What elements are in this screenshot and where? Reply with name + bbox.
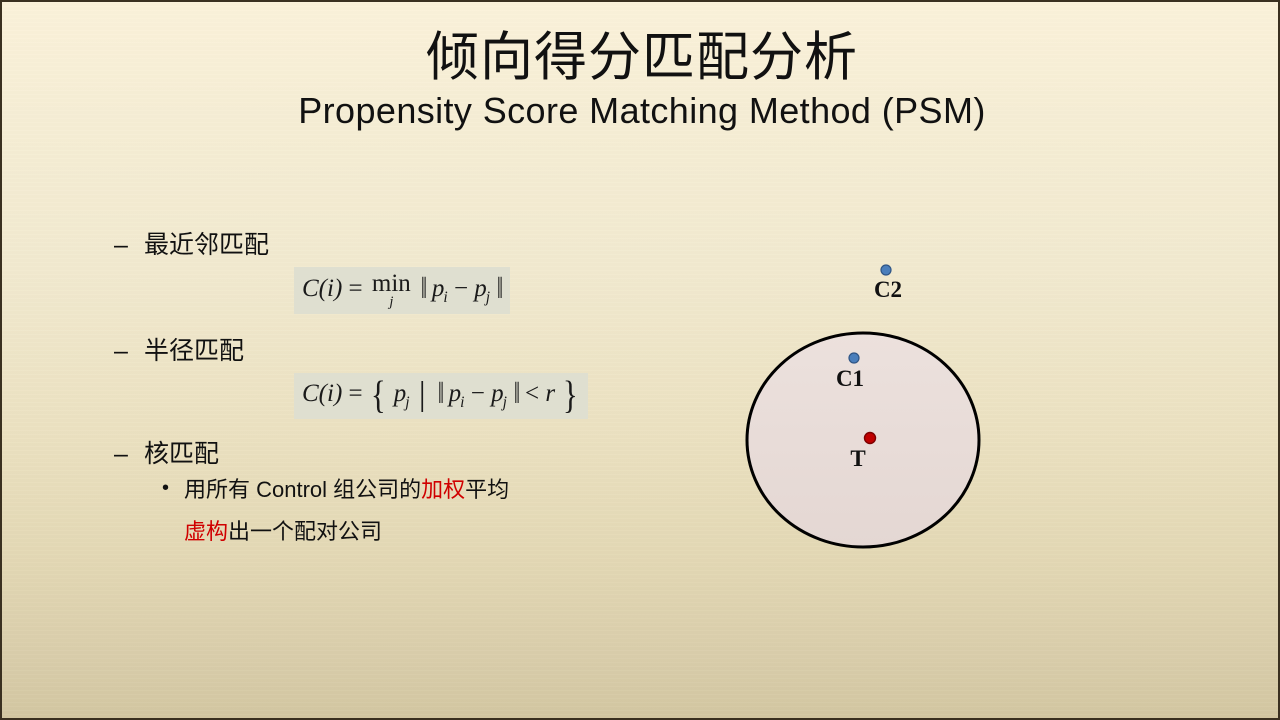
formula-wrap-radius-matching: C(i) = { pj | ‖ pi − pj ‖ < r } [294, 373, 714, 420]
bullet-label-nearest-neighbor: 最近邻匹配 [144, 230, 269, 260]
sub-bullet-line1-part-a: 用所有 Control 组公司的 [184, 477, 421, 502]
treated-point-t-label: T [850, 446, 865, 471]
sub-bullet-line1-highlight: 加权 [421, 477, 465, 502]
control-point-c1-dot [849, 353, 859, 363]
formula2-lhs: C(i) [302, 380, 342, 407]
formula1-minus: − [454, 275, 468, 302]
formula2-p-j2: p [491, 380, 504, 407]
formula2-brace-close: } [563, 377, 578, 416]
formula2-minus: − [471, 380, 485, 407]
formula-radius-matching: C(i) = { pj | ‖ pi − pj ‖ < r } [294, 373, 588, 420]
formula1-sub-i: i [443, 289, 447, 306]
formula2-vertical-bar: | [419, 378, 426, 412]
formula2-less-than: < [525, 380, 539, 407]
formula2-norm-close: ‖ [514, 378, 518, 409]
dash-marker-icon: – [114, 230, 144, 260]
formula2-sub-i: i [460, 394, 464, 411]
page-title-chinese: 倾向得分匹配分析 [2, 30, 1280, 86]
treated-point-t-dot [865, 433, 876, 444]
dash-marker-icon: – [114, 439, 144, 469]
sub-bullet-line2-part-b: 出一个配对公司 [228, 519, 382, 544]
bullet-item-kernel-matching: – 核匹配 [114, 439, 714, 469]
formula-nearest-neighbor: C(i) = min j ‖ pi − pj ‖ [294, 267, 510, 314]
dash-marker-icon: – [114, 336, 144, 366]
formula-wrap-nearest-neighbor: C(i) = min j ‖ pi − pj ‖ [294, 267, 714, 314]
bullet-content-column: – 最近邻匹配 C(i) = min j ‖ pi − pj ‖ – 半径匹配 [114, 230, 714, 553]
psm-matching-diagram: C2 C1 T [732, 250, 1002, 570]
formula2-norm-open: ‖ [438, 378, 442, 409]
formula1-sub-j: j [486, 289, 490, 306]
control-point-c2-dot [881, 265, 891, 275]
dot-marker-icon: • [162, 469, 184, 507]
title-block: 倾向得分匹配分析 Propensity Score Matching Metho… [2, 30, 1280, 130]
bullet-item-nearest-neighbor: – 最近邻匹配 [114, 230, 714, 260]
slide-canvas: 倾向得分匹配分析 Propensity Score Matching Metho… [0, 0, 1280, 720]
bullet-label-kernel-matching: 核匹配 [144, 439, 219, 469]
sub-bullet-line-1: 用所有 Control 组公司的加权平均 [184, 477, 509, 502]
formula1-norm-open: ‖ [421, 273, 425, 304]
formula2-brace-open: { [371, 377, 386, 416]
control-point-c2-label: C2 [874, 277, 902, 302]
formula1-equals: = [349, 275, 363, 302]
sub-bullet-line2-highlight: 虚构 [184, 519, 228, 544]
formula2-r: r [545, 380, 555, 407]
page-subtitle-english: Propensity Score Matching Method (PSM) [2, 91, 1280, 131]
formula2-sub-j2: j [503, 394, 507, 411]
sub-bullet-line1-part-b: 平均 [465, 477, 509, 502]
formula2-sub-j: j [405, 394, 409, 411]
formula1-p-j: p [474, 275, 487, 302]
control-point-c1-label: C1 [836, 366, 864, 391]
bullet-label-radius-matching: 半径匹配 [144, 336, 244, 366]
formula1-min-text: min [372, 271, 411, 296]
sub-bullet-kernel-description: • 用所有 Control 组公司的加权平均 虚构出一个配对公司 [162, 469, 714, 553]
formula1-min-operator: min j [372, 271, 411, 310]
formula1-lhs: C(i) [302, 275, 342, 302]
formula1-norm-close: ‖ [497, 273, 501, 304]
formula1-min-subscript: j [389, 295, 393, 310]
sub-bullet-line-2: 虚构出一个配对公司 [184, 519, 382, 544]
sub-bullet-body: 用所有 Control 组公司的加权平均 虚构出一个配对公司 [184, 469, 509, 553]
formula2-equals: = [349, 380, 363, 407]
bullet-item-radius-matching: – 半径匹配 [114, 336, 714, 366]
